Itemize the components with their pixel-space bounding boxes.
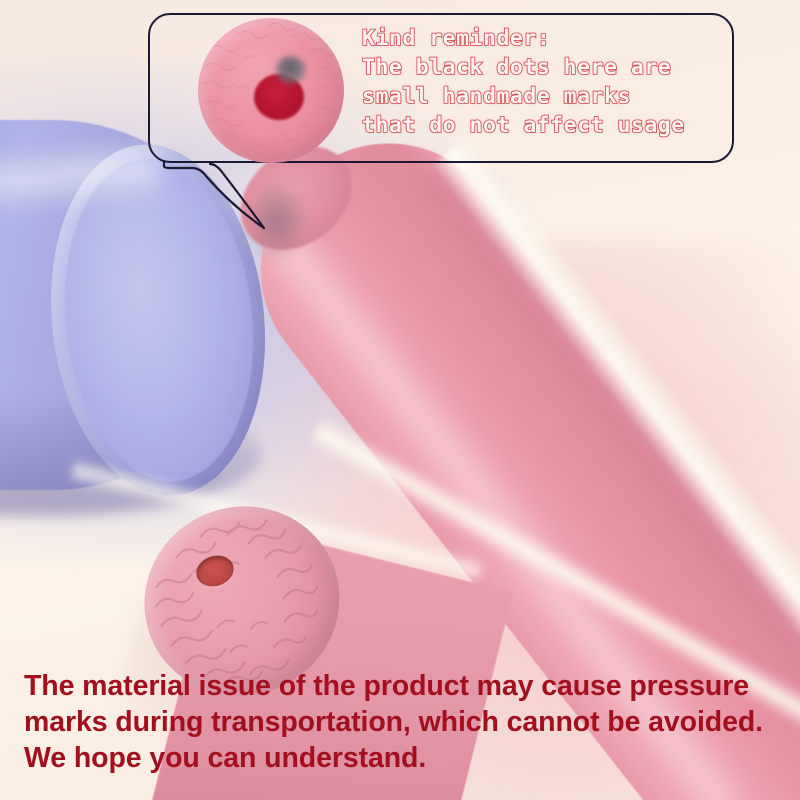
- reminder-line-1: Kind reminder:: [362, 24, 734, 53]
- bottom-caption-block: The material issue of the product may ca…: [24, 668, 784, 776]
- reminder-line-2: The black dots here are: [362, 53, 734, 82]
- caption-line-3: We hope you can understand.: [24, 740, 784, 776]
- reminder-text-block: Kind reminder: The black dots here are s…: [362, 24, 734, 140]
- caption-line-1: The material issue of the product may ca…: [24, 668, 784, 704]
- pink-cylinder-tip-dark-mark: [250, 186, 304, 256]
- caption-line-2: marks during transportation, which canno…: [24, 704, 784, 740]
- reminder-line-3: small handmade marks: [362, 82, 734, 111]
- reminder-line-4: that do not affect usage: [362, 111, 734, 140]
- inset-black-dot-mark: [276, 56, 306, 84]
- product-notice-image: Kind reminder: The black dots here are s…: [0, 0, 800, 800]
